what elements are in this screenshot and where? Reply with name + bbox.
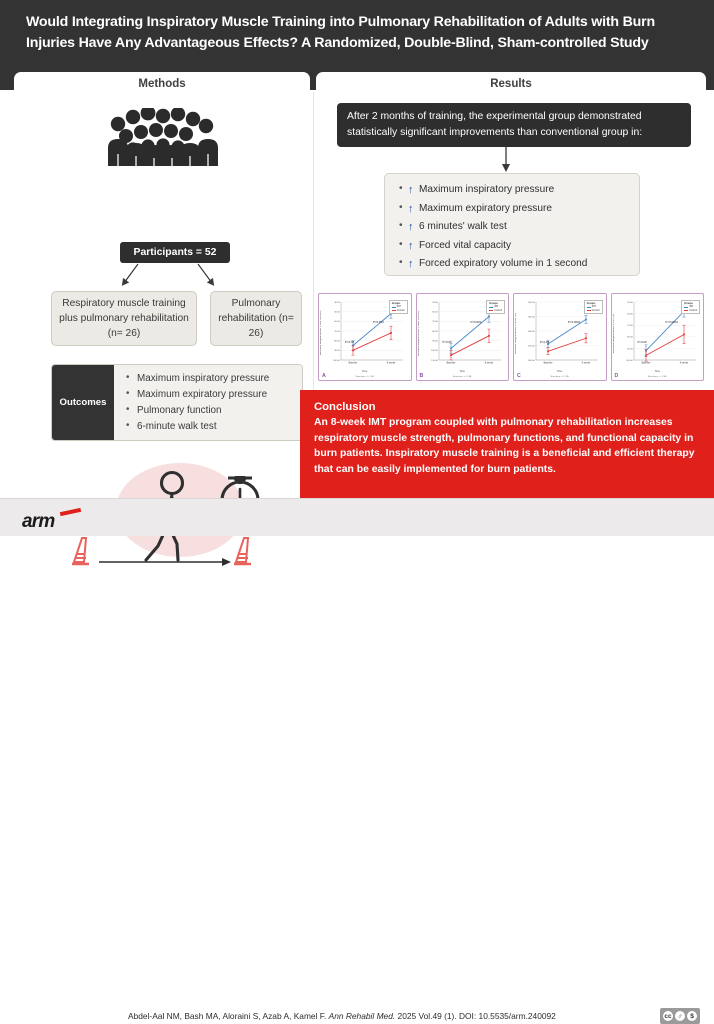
- list-item: ↑ Forced vital capacity: [399, 237, 633, 256]
- chart-y-axis-label: Estimated Marginal Means of MIP (cmH2O): [320, 302, 322, 364]
- svg-text:50.00: 50.00: [627, 302, 633, 304]
- svg-text:90.00: 90.00: [432, 341, 438, 343]
- svg-text:90.00: 90.00: [627, 348, 633, 350]
- svg-text:100.00: 100.00: [626, 360, 633, 362]
- chart-annotation: P>0.05: [345, 340, 354, 344]
- chart-footnote: Error bars: +/- 1 SE: [319, 376, 411, 378]
- arm-logo[interactable]: arm: [22, 508, 88, 530]
- chart-footnote: Error bars: +/- 1 SE: [514, 376, 606, 378]
- chart-footnote: Error bars: +/- 1 SE: [612, 376, 704, 378]
- chart-annotation: P<0.0001: [568, 320, 580, 324]
- methods-panel: Participants = 52 Respiratory muscle tra…: [14, 90, 310, 496]
- list-item: Maximum expiratory pressure: [126, 387, 298, 403]
- svg-text:50.00: 50.00: [432, 302, 438, 304]
- chart-annotation: P>0.05: [638, 340, 647, 344]
- arm-logo-text: arm: [22, 511, 54, 533]
- up-arrow-icon: ↑: [408, 200, 414, 219]
- methods-split-arrows: [114, 262, 238, 292]
- chart-panel-letter: A: [322, 373, 326, 379]
- chart-x-axis-label: Time: [514, 370, 606, 373]
- chart-legend: GroupsIMTControl: [681, 300, 700, 314]
- svg-text:500.00: 500.00: [528, 360, 535, 362]
- svg-text:70.00: 70.00: [627, 325, 633, 327]
- svg-text:80.00: 80.00: [432, 331, 438, 333]
- list-item-label: Forced expiratory volume in 1 second: [419, 258, 587, 269]
- chart-panel-c: 500.00450.00400.00350.00300.00Baseline8 …: [513, 293, 607, 381]
- footer-bar: arm Abdel-Aal NM, Bash MA, Aloraini S, A…: [0, 498, 714, 536]
- up-arrow-icon: ↑: [408, 181, 414, 200]
- chart-annotation: P>0.05: [540, 340, 549, 344]
- results-callout: After 2 months of training, the experime…: [337, 103, 691, 147]
- list-item: ↑ 6 minutes' walk test: [399, 218, 633, 237]
- svg-text:300.00: 300.00: [528, 302, 535, 304]
- svg-text:70.00: 70.00: [334, 331, 340, 333]
- chart-annotation: P>0.05: [443, 340, 452, 344]
- outcomes-section: Outcomes Maximum inspiratory pressure Ma…: [51, 364, 303, 441]
- svg-text:Baseline: Baseline: [349, 362, 359, 364]
- license-badge[interactable]: cc ♂ $: [660, 1008, 700, 1024]
- results-down-arrow-icon: [499, 147, 513, 173]
- conclusion-body: An 8-week IMT program coupled with pulmo…: [314, 415, 700, 477]
- participants-badge: Participants = 52: [120, 242, 230, 263]
- list-item-label: Maximum expiratory pressure: [419, 203, 552, 214]
- cc-nc-icon: $: [687, 1011, 697, 1021]
- chart-legend: GroupsIMTControl: [486, 300, 505, 314]
- chart-annotation: P<0.001: [471, 320, 482, 324]
- list-item: Maximum inspiratory pressure: [126, 371, 298, 387]
- chart-annotation: P<0.0001: [666, 320, 678, 324]
- svg-text:60.00: 60.00: [627, 314, 633, 316]
- svg-text:450.00: 450.00: [528, 345, 535, 347]
- svg-text:110.00: 110.00: [431, 360, 438, 362]
- results-chart-strip: 100.0090.0080.0070.0060.0050.0040.00Base…: [318, 293, 704, 383]
- traffic-cone-icon: [72, 538, 89, 564]
- up-arrow-icon: ↑: [408, 237, 414, 256]
- chart-panel-a: 100.0090.0080.0070.0060.0050.0040.00Base…: [318, 293, 412, 381]
- chart-panel-d: 100.0090.0080.0070.0060.0050.00Baseline8…: [611, 293, 705, 381]
- list-item: 6-minute walk test: [126, 419, 298, 435]
- traffic-cone-icon: [234, 538, 251, 564]
- svg-text:400.00: 400.00: [528, 331, 535, 333]
- citation-journal: Ann Rehabil Med.: [329, 1011, 396, 1021]
- list-item-label: Maximum inspiratory pressure: [419, 184, 554, 195]
- conclusion-title: Conclusion: [314, 401, 700, 413]
- svg-text:60.00: 60.00: [334, 321, 340, 323]
- cc-by-icon: ♂: [675, 1011, 685, 1021]
- svg-text:70.00: 70.00: [432, 321, 438, 323]
- svg-text:60.00: 60.00: [432, 312, 438, 314]
- chart-x-axis-label: Time: [612, 370, 704, 373]
- svg-text:80.00: 80.00: [334, 341, 340, 343]
- svg-text:100.00: 100.00: [333, 360, 340, 362]
- chart-panel-letter: D: [615, 373, 619, 379]
- list-item: Pulmonary function: [126, 403, 298, 419]
- chart-annotation: P<0.001: [373, 320, 384, 324]
- chart-legend: GroupsIMTControl: [584, 300, 603, 314]
- chart-footnote: Error bars: +/- 1 SE: [417, 376, 509, 378]
- chart-x-axis-label: Time: [417, 370, 509, 373]
- list-item-label: Forced vital capacity: [419, 240, 511, 251]
- chart-x-axis-label: Time: [319, 370, 411, 373]
- chart-y-axis-label: Estimated Marginal Means of FVC (%): [613, 302, 615, 364]
- conclusion-box: Conclusion An 8-week IMT program coupled…: [300, 390, 714, 498]
- citation: Abdel-Aal NM, Bash MA, Aloraini S, Azab …: [128, 1010, 608, 1022]
- chart-panel-b: 110.00100.0090.0080.0070.0060.0050.00Bas…: [416, 293, 510, 381]
- svg-text:8 weeks: 8 weeks: [679, 362, 688, 364]
- svg-text:50.00: 50.00: [334, 312, 340, 314]
- cc-icon: cc: [663, 1011, 673, 1021]
- svg-text:8 weeks: 8 weeks: [484, 362, 493, 364]
- svg-text:40.00: 40.00: [334, 302, 340, 304]
- chart-y-axis-label: Estimated Marginal Means of MEP (cmH2O): [418, 302, 420, 364]
- list-item: ↑ Maximum expiratory pressure: [399, 200, 633, 219]
- participants-group-icon: [100, 108, 224, 166]
- chart-legend: GroupsIMTControl: [389, 300, 408, 314]
- citation-authors: Abdel-Aal NM, Bash MA, Aloraini S, Azab …: [128, 1011, 326, 1021]
- results-improvements-list: ↑ Maximum inspiratory pressure ↑ Maximum…: [384, 173, 640, 276]
- list-item-label: 6 minutes' walk test: [419, 221, 507, 232]
- tab-band: Methods Results: [0, 72, 714, 90]
- svg-text:350.00: 350.00: [528, 316, 535, 318]
- up-arrow-icon: ↑: [408, 255, 414, 274]
- svg-text:Baseline: Baseline: [446, 362, 456, 364]
- header-band: Would Integrating Inspiratory Muscle Tra…: [0, 0, 714, 72]
- outcomes-list: Maximum inspiratory pressure Maximum exp…: [114, 365, 302, 440]
- page-title: Would Integrating Inspiratory Muscle Tra…: [26, 12, 688, 54]
- chart-panel-letter: C: [517, 373, 521, 379]
- svg-text:80.00: 80.00: [627, 337, 633, 339]
- svg-text:90.00: 90.00: [334, 350, 340, 352]
- outcomes-label: Outcomes: [52, 365, 114, 440]
- chart-panel-letter: B: [420, 373, 424, 379]
- group-box-experimental: Respiratory muscle training plus pulmona…: [51, 291, 197, 346]
- list-item: ↑ Forced expiratory volume in 1 second: [399, 255, 633, 274]
- chart-y-axis-label: Estimated Marginal Means of 6MWT (m): [515, 302, 517, 364]
- svg-text:Baseline: Baseline: [641, 362, 651, 364]
- svg-text:8 weeks: 8 weeks: [387, 362, 396, 364]
- svg-text:Baseline: Baseline: [544, 362, 554, 364]
- direction-arrow-icon: [99, 558, 231, 566]
- group-box-control: Pulmonary rehabilitation (n= 26): [210, 291, 302, 346]
- up-arrow-icon: ↑: [408, 218, 414, 237]
- arm-logo-slash-icon: [60, 508, 81, 516]
- svg-text:8 weeks: 8 weeks: [582, 362, 591, 364]
- svg-text:100.00: 100.00: [431, 350, 438, 352]
- list-item: ↑ Maximum inspiratory pressure: [399, 181, 633, 200]
- citation-rest: 2025 Vol.49 (1). DOI: 10.5535/arm.240092: [398, 1011, 556, 1021]
- column-divider: [313, 92, 314, 392]
